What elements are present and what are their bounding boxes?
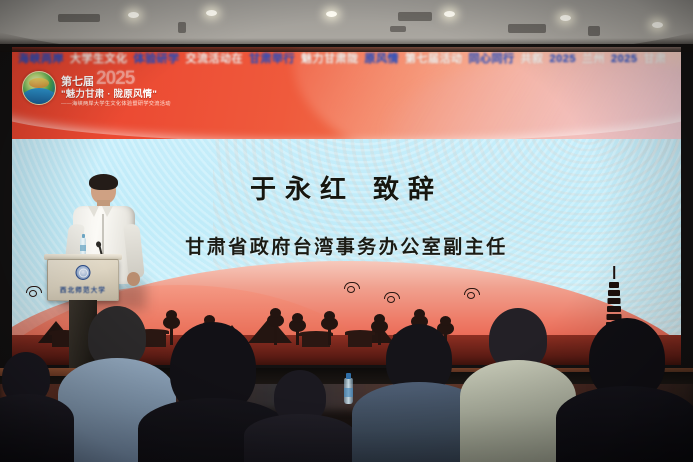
ceiling-spotlight [652, 22, 663, 28]
marquee-chunk: 原风情 [365, 52, 400, 66]
event-logo-text: 第七届 2025 "魅力甘肃 · 陇原风情" ——海峡两岸大学生文化体验暨研学交… [61, 69, 171, 107]
marquee-chunk: 交流活动在 [186, 52, 244, 66]
event-year: 2025 [96, 69, 134, 88]
ceiling [0, 0, 693, 52]
screenshot-root: 海峡两岸大学生文化体验研学交流活动在甘肃举行魅力甘肃陇原风情第七届活动同心同行共… [0, 0, 693, 462]
event-logo-headline: 第七届 2025 [61, 69, 171, 88]
marquee-chunk: 体验研学 [134, 52, 180, 66]
marquee-chunk: 共叙 [521, 52, 544, 66]
attendee-shoulders [0, 394, 74, 462]
cloud-motif-icon [344, 282, 360, 289]
marquee-chunk: 魅力甘肃陇 [301, 52, 359, 66]
ceiling-spotlight [128, 12, 139, 18]
slide-banner: 海峡两岸大学生文化体验研学交流活动在甘肃举行魅力甘肃陇原风情第七届活动同心同行共… [12, 47, 681, 139]
marquee-chunk: 2025 [550, 52, 576, 66]
ceiling-spotlight [560, 15, 571, 21]
marquee-chunk: 海峡两岸 [18, 52, 64, 66]
ceiling-spotlight [206, 10, 217, 16]
event-ordinal: 第七届 [61, 77, 94, 88]
marquee-chunk: 甘肃 [643, 52, 666, 66]
podium-organization-name: 西北师范大学 [48, 284, 118, 294]
podium-front-panel: 西北师范大学 [47, 259, 119, 301]
cloud-motif-icon [464, 288, 480, 295]
ceiling-fixture [58, 14, 100, 22]
marquee-chunk: 兰州 [582, 52, 605, 66]
tree-silhouette [296, 328, 299, 345]
event-slogan: "魅力甘肃 · 陇原风情" [61, 90, 171, 100]
pagoda-tier [609, 282, 619, 288]
speaker-hair [89, 174, 118, 190]
ceiling-spotlight [326, 11, 337, 17]
speaker-collar-left [88, 206, 99, 217]
ceiling-fixture [390, 26, 406, 32]
ceiling-fixture [398, 12, 432, 21]
event-subline: ——海峡两岸大学生文化体验暨研学交流活动 [61, 102, 171, 107]
attendee-shoulders [244, 414, 356, 462]
marquee-chunk: 第七届活动 [405, 52, 463, 66]
mountain-river-emblem-icon [22, 71, 56, 105]
university-crest-icon [76, 265, 91, 280]
pagoda-tier [608, 298, 621, 304]
ceiling-fixture [588, 26, 600, 36]
marquee-chunk: 同心同行 [469, 52, 515, 66]
list-item [244, 370, 356, 462]
ceiling-shadow [0, 38, 693, 52]
marquee-chunk: 大学生文化 [70, 52, 128, 66]
list-item [0, 352, 74, 462]
marquee-chunk: 2025 [611, 52, 637, 66]
tree-silhouette [328, 326, 331, 345]
attendee-shoulders [556, 386, 693, 462]
ceiling-fixture [508, 24, 546, 33]
cloud-motif-icon [26, 286, 42, 293]
cloud-motif-icon [384, 292, 400, 299]
marquee-chunk: 甘肃举行 [249, 52, 295, 66]
water-bottle-icon [80, 238, 86, 255]
speaker-hand-right [127, 272, 140, 286]
banner-marquee: 海峡两岸大学生文化体验研学交流活动在甘肃举行魅力甘肃陇原风情第七届活动同心同行共… [12, 52, 681, 66]
pagoda-tier [608, 290, 620, 296]
ceiling-spotlight [444, 11, 455, 17]
pagoda-spire [613, 266, 615, 279]
ceiling-fixture [178, 22, 186, 33]
event-logo-lockup: 第七届 2025 "魅力甘肃 · 陇原风情" ——海峡两岸大学生文化体验暨研学交… [22, 69, 171, 107]
list-item [556, 318, 693, 462]
building-silhouette [302, 335, 330, 347]
pagoda-tier [607, 306, 621, 312]
